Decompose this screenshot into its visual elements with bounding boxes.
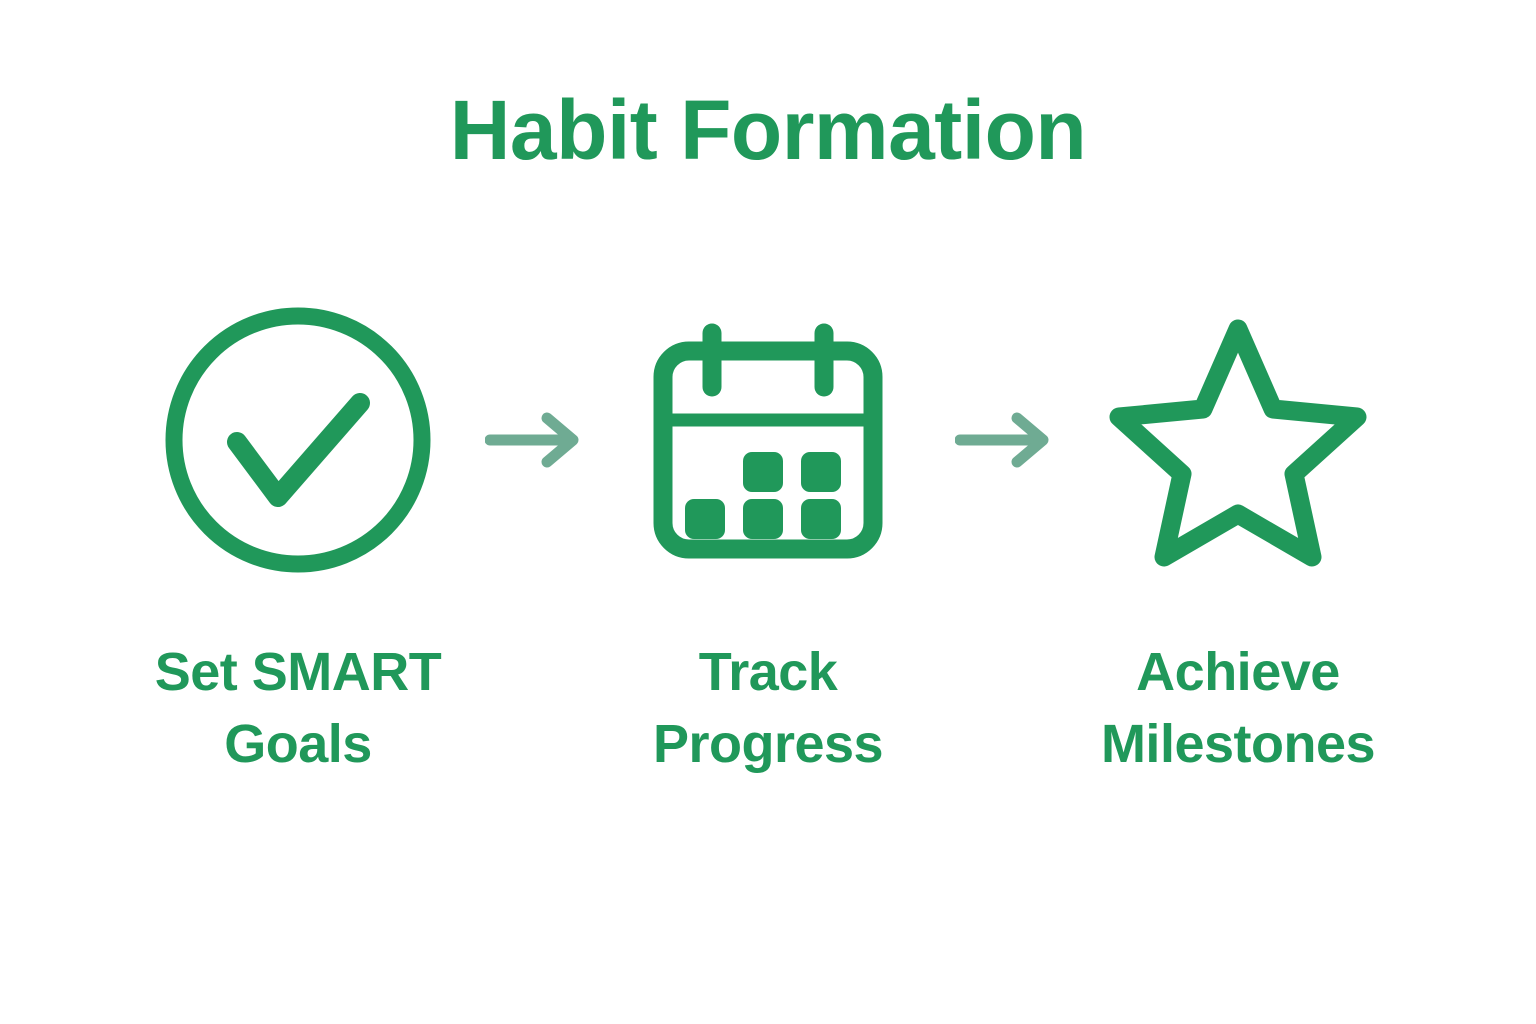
infographic-canvas: Habit Formation Set SMART Goals bbox=[0, 0, 1536, 1024]
arrow-right-icon bbox=[485, 412, 581, 468]
star-icon bbox=[1105, 307, 1371, 573]
process-flow: Set SMART Goals bbox=[0, 300, 1536, 820]
flow-step-label: Track Progress bbox=[653, 636, 883, 780]
arrow-right-icon bbox=[955, 412, 1051, 468]
check-circle-icon-container bbox=[163, 300, 433, 580]
check-circle-icon bbox=[165, 307, 431, 573]
page-title: Habit Formation bbox=[0, 86, 1536, 174]
flow-step-track-progress[interactable]: Track Progress bbox=[608, 300, 928, 780]
flow-step-set-smart-goals[interactable]: Set SMART Goals bbox=[138, 300, 458, 780]
flow-step-achieve-milestones[interactable]: Achieve Milestones bbox=[1078, 300, 1398, 780]
flow-connector-1 bbox=[458, 300, 608, 580]
flow-connector-2 bbox=[928, 300, 1078, 580]
calendar-icon bbox=[635, 307, 901, 573]
star-icon-container bbox=[1103, 300, 1373, 580]
flow-step-label: Achieve Milestones bbox=[1101, 636, 1375, 780]
calendar-icon-container bbox=[633, 300, 903, 580]
flow-step-label: Set SMART Goals bbox=[155, 636, 442, 780]
